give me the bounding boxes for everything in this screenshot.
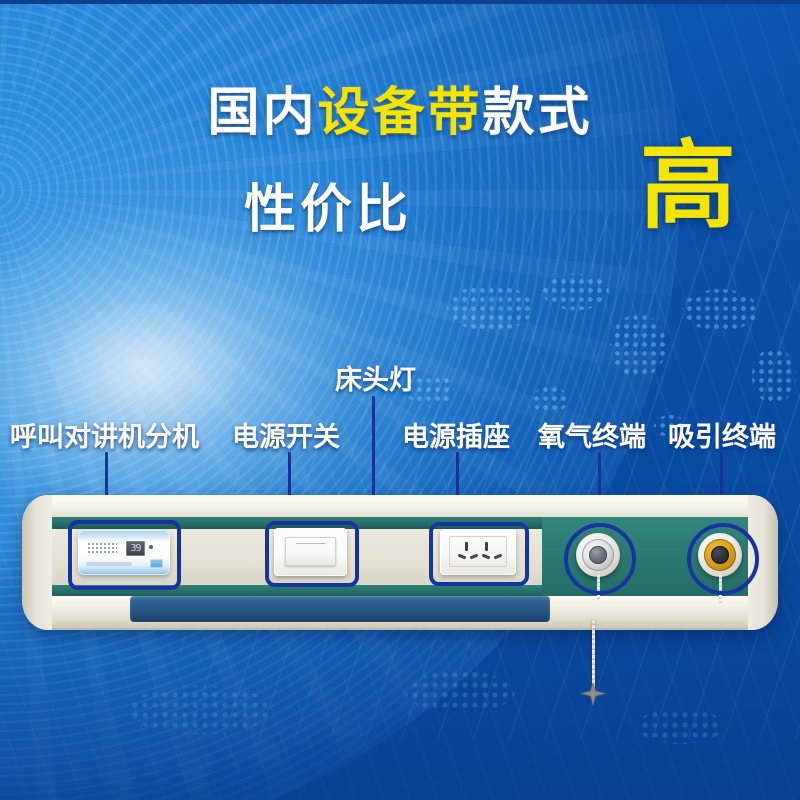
panel-end-cap-left bbox=[22, 495, 52, 630]
panel-top-rail bbox=[32, 497, 770, 518]
callout-label-intercom: 呼叫对讲机分机 bbox=[10, 415, 199, 454]
highlight-box-intercom bbox=[68, 520, 181, 590]
pull-hook-cord bbox=[592, 620, 595, 688]
callout-label-power-switch: 电源开关 bbox=[232, 415, 340, 454]
pull-hook-icon bbox=[578, 682, 608, 706]
callout-label-suction-terminal: 吸引终端 bbox=[668, 415, 776, 454]
highlight-box-power-socket bbox=[429, 522, 529, 586]
callout-label-oxygen-terminal: 氧气终端 bbox=[538, 415, 646, 454]
callout-label-bed-lamp: 床头灯 bbox=[335, 358, 416, 397]
top-edge-strip bbox=[0, 0, 800, 4]
panel-valance-strip bbox=[130, 596, 550, 622]
highlight-circle-oxygen bbox=[564, 523, 636, 595]
callout-label-power-socket: 电源插座 bbox=[402, 415, 510, 454]
highlight-circle-suction bbox=[687, 523, 759, 595]
highlight-box-power-switch bbox=[265, 521, 359, 587]
product-banner-image: 国内设备带款式 性价比 高 呼叫对讲机分机 电源开关 床头灯 电源插座 氧气终端… bbox=[0, 0, 800, 800]
